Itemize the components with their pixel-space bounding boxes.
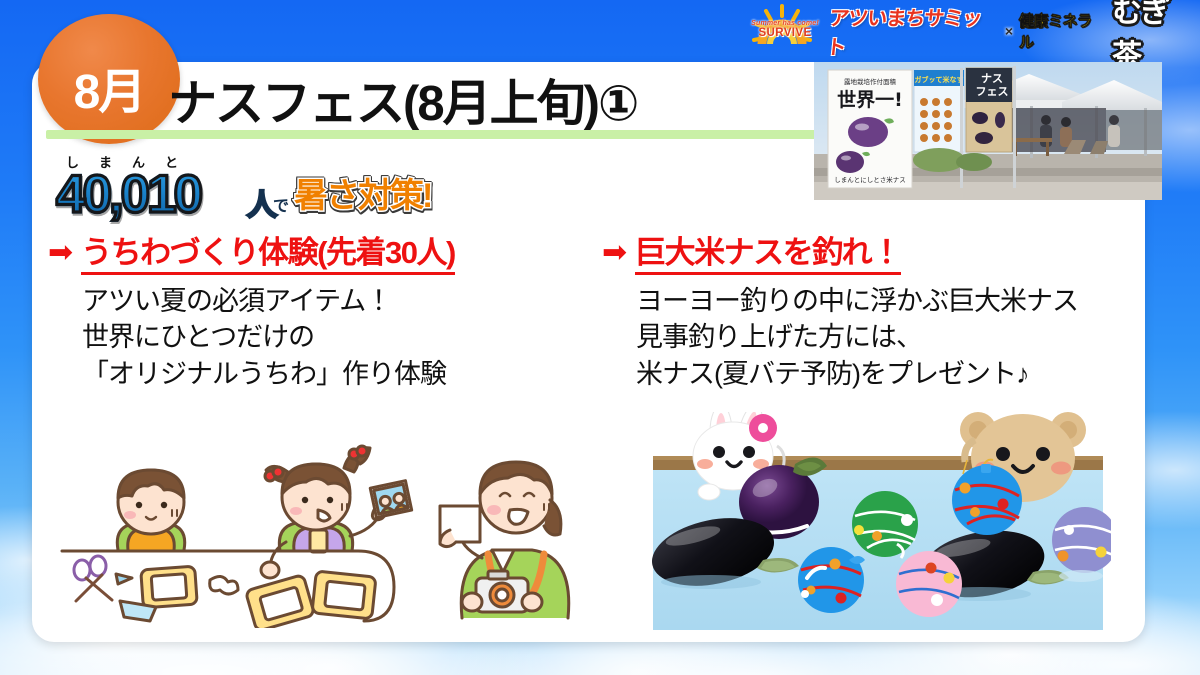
body-line: 米ナス(夏バテ予防)をプレゼント♪ <box>636 356 1142 393</box>
summit-logo-text: アツいまちサミット <box>825 2 1002 60</box>
headline-tagline: 暑さ対策! <box>294 168 431 217</box>
column-heading: うちわづくり体験(先着30人) <box>81 236 455 275</box>
svg-text:ナス: ナス <box>981 72 1003 85</box>
column-heading-row: ➡ うちわづくり体験(先着30人) <box>48 236 588 275</box>
arrow-right-icon: ➡ <box>602 238 627 268</box>
children-making-fans-illustration <box>58 418 588 628</box>
body-line: 世界にひとつだけの <box>82 319 588 356</box>
event-photo: 露地栽培作付面積 世界一! しまんとにしとさ米ナス ガブッて米なす ナス フェス <box>814 62 1162 200</box>
column-body: アツい夏の必須アイテム！ 世界にひとつだけの 「オリジナルうちわ」作り体験 <box>82 283 588 393</box>
headline-group: しまんと 40,010 人 で 暑さ対策! <box>44 152 444 222</box>
svg-text:世界一!: 世界一! <box>837 89 903 111</box>
body-line: 見事釣り上げた方には、 <box>636 319 1142 356</box>
column-body: ヨーヨー釣りの中に浮かぶ巨大米ナス 見事釣り上げた方には、 米ナス(夏バテ予防)… <box>636 283 1142 393</box>
brand-logo-bar: Summer has come! SURVIVE アツいまちサミット × 健康ミ… <box>748 2 1196 60</box>
kenko-mineral-text: 健康ミネラル <box>1019 10 1106 52</box>
yoyo-fishing-eggplant-illustration <box>645 412 1111 634</box>
column-heading-row: ➡ 巨大米ナスを釣れ！ <box>602 236 1142 275</box>
column-yoyo: ➡ 巨大米ナスを釣れ！ ヨーヨー釣りの中に浮かぶ巨大米ナス 見事釣り上げた方には… <box>602 236 1142 393</box>
sun-logo-words: Summer has come! SURVIVE <box>748 20 822 39</box>
page-title: ナスフェス(8月上旬)① <box>168 64 637 135</box>
month-badge-label: 8月 <box>74 52 145 122</box>
body-line: アツい夏の必須アイテム！ <box>82 283 588 320</box>
column-uchiwa: ➡ うちわづくり体験(先着30人) アツい夏の必須アイテム！ 世界にひとつだけの… <box>48 236 588 393</box>
arrow-right-icon: ➡ <box>48 238 73 268</box>
month-badge: 8月 <box>38 14 180 144</box>
column-heading: 巨大米ナスを釣れ！ <box>635 236 901 275</box>
sun-survive-logo: Summer has come! SURVIVE <box>748 4 822 58</box>
svg-text:露地栽培作付面積: 露地栽培作付面積 <box>844 77 897 86</box>
svg-text:ガブッて米なす: ガブッて米なす <box>915 75 964 84</box>
headline-particle: で <box>273 192 289 216</box>
sun-logo-title: SURVIVE <box>748 27 822 39</box>
svg-text:しまんとにしとさ米ナス: しまんとにしとさ米ナス <box>834 175 906 184</box>
svg-text:フェス: フェス <box>976 85 1009 98</box>
body-line: ヨーヨー釣りの中に浮かぶ巨大米ナス <box>636 283 1142 320</box>
body-line: 「オリジナルうちわ」作り体験 <box>82 356 588 393</box>
collab-cross-icon: × <box>1005 23 1013 39</box>
headline-number: 40,010 <box>56 164 200 225</box>
